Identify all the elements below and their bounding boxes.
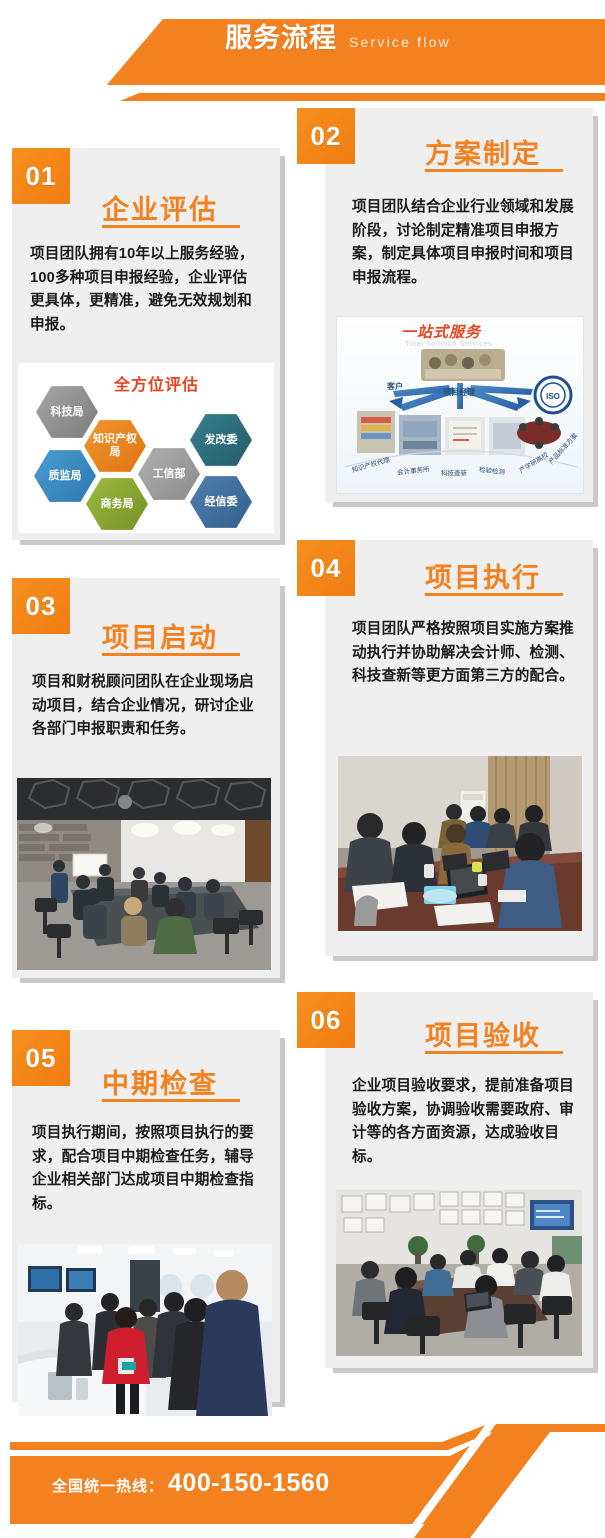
- header-banner: 服务流程 Service flow: [0, 0, 605, 104]
- hexagon-node-label: 发改委: [205, 434, 238, 447]
- service-flow-node-customer: 客户: [387, 381, 403, 392]
- hexagon-node-label: 商务局: [101, 498, 134, 511]
- page-subtitle: Service flow: [349, 34, 451, 50]
- hexagon-node: 质监局: [34, 449, 96, 503]
- footer-hotline-number: 400-150-1560: [168, 1469, 330, 1498]
- card-02-body: 项目团队结合企业行业领域和发展阶段，讨论制定精准项目申报方案，制定具体项目申报时…: [352, 196, 574, 291]
- hexagon-diagram-title: 全方位评估: [114, 371, 199, 395]
- card-06-title: 项目验收: [425, 1014, 541, 1053]
- svg-text:ISO: ISO: [546, 392, 560, 401]
- card-03-title-rule: [102, 653, 240, 656]
- hexagon-node-label: 工信部: [153, 468, 186, 481]
- card-06: 项目验收 企业项目验收要求，提前准备项目验收方案，协调验收需要政府、审计等的各方…: [325, 992, 593, 1368]
- card-06-body: 企业项目验收要求，提前准备项目验收方案，协调验收需要政府、审计等的各方面资源，达…: [352, 1075, 574, 1170]
- hexagon-node: 工信部: [138, 447, 200, 501]
- card-05-number-badge: 05: [12, 1030, 70, 1086]
- card-04-figure: [338, 756, 582, 931]
- card-06-number-badge: 06: [297, 992, 355, 1048]
- hexagon-node-label: 经信委: [205, 496, 238, 509]
- card-03-title: 项目启动: [102, 616, 218, 655]
- card-06-title-rule: [425, 1051, 563, 1054]
- card-06-figure: [336, 1190, 582, 1356]
- hexagon-node: 科技局: [36, 385, 98, 439]
- card-04-title: 项目执行: [425, 556, 541, 595]
- hexagon-node-label: 知识产权局: [84, 433, 146, 458]
- photo-meeting-room-kickoff: [17, 778, 271, 970]
- service-flow-subtitle: Total Solution Services: [405, 339, 492, 348]
- card-01: 企业评估 项目团队拥有10年以上服务经验，100多种项目申报经验，企业评估更具体…: [12, 148, 280, 540]
- card-02-title: 方案制定: [425, 132, 541, 171]
- card-04-body: 项目团队严格按照项目实施方案推动执行并协助解决会计师、检测、科技查新等更方面第三…: [352, 618, 574, 689]
- card-03-body: 项目和财税顾问团队在企业现场启动项目，结合企业情况，研讨企业各部门申报职责和任务…: [32, 671, 256, 742]
- card-03: 项目启动 项目和财税顾问团队在企业现场启动项目，结合企业情况，研讨企业各部门申报…: [12, 578, 280, 978]
- hexagon-node: 发改委: [190, 413, 252, 467]
- photo-team-working-session: [338, 756, 582, 931]
- header-title-group: 服务流程 Service flow: [225, 16, 451, 55]
- footer-hotline-label: 全国统一热线：: [52, 1475, 164, 1496]
- card-02-title-rule: [425, 169, 563, 172]
- card-05-figure: [18, 1244, 272, 1416]
- card-01-number-badge: 01: [12, 148, 70, 204]
- card-04-number-badge: 04: [297, 540, 355, 596]
- card-01-title-rule: [102, 225, 240, 228]
- card-02: 方案制定 项目团队结合企业行业领域和发展阶段，讨论制定精准项目申报方案，制定具体…: [325, 108, 593, 502]
- card-03-figure: [17, 778, 271, 970]
- hexagon-node: 商务局: [86, 477, 148, 531]
- card-04-title-rule: [425, 593, 563, 596]
- footer-hotline: 全国统一热线： 400-150-1560: [52, 1469, 330, 1498]
- hexagon-node-label: 质监局: [49, 470, 82, 483]
- card-02-figure: ISO 一站式服务 Total Solution Services 客户 项目经…: [336, 316, 584, 494]
- card-05-body: 项目执行期间，按照项目执行的要求，配合项目中期检查任务，辅导企业相关部门达成项目…: [32, 1122, 256, 1217]
- hexagon-node-label: 科技局: [51, 406, 84, 419]
- card-05-title: 中期检查: [102, 1062, 218, 1101]
- hexagon-node: 知识产权局: [84, 419, 146, 473]
- card-01-body: 项目团队拥有10年以上服务经验，100多种项目申报经验，企业评估更具体，更精准，…: [30, 243, 256, 338]
- card-05-title-rule: [102, 1099, 240, 1102]
- card-04: 项目执行 项目团队严格按照项目实施方案推动执行并协助解决会计师、检测、科技查新等…: [325, 540, 593, 956]
- service-flow-leaf-label: 科技查新: [441, 467, 467, 477]
- card-01-title: 企业评估: [102, 188, 218, 227]
- service-flow-infographic: 服务流程 Service flow 企业评估 项目团队拥有10年以上服务经验，1…: [0, 0, 605, 1538]
- service-flow-node-manager: 项目经理: [443, 387, 475, 398]
- page-title: 服务流程: [225, 16, 337, 55]
- card-02-number-badge: 02: [297, 108, 355, 164]
- card-03-number-badge: 03: [12, 578, 70, 634]
- hexagon-node: 经信委: [190, 475, 252, 529]
- card-01-figure: 全方位评估 科技局 知识产权局 发改委 质监局 工信部 商务局 经信委: [18, 363, 274, 533]
- photo-acceptance-meeting: [336, 1190, 582, 1356]
- photo-site-visit-inspection: [18, 1244, 272, 1416]
